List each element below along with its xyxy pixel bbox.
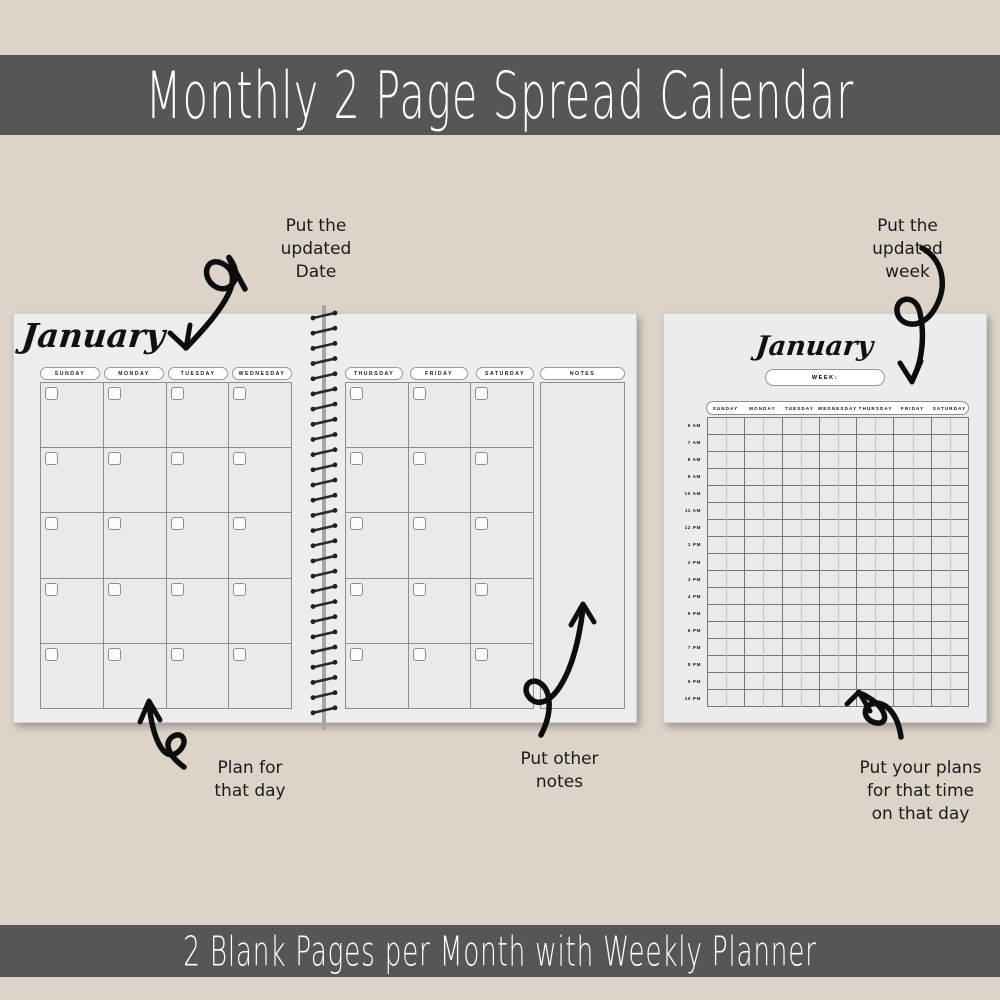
date-number-box[interactable] [45, 648, 58, 661]
month-day-cell[interactable] [167, 579, 230, 644]
weekly-time-column: 6 AM7 AM8 AM9 AM10 AM11 AM12 PM1 PM2 PM3… [676, 417, 704, 707]
weekly-day-header-thursday: THURSDAY [857, 406, 894, 411]
top-banner: Monthly 2 Page Spread Calendar [0, 55, 1000, 135]
date-number-box[interactable] [171, 452, 184, 465]
date-number-box[interactable] [108, 517, 121, 530]
page-title: Monthly 2 Page Spread Calendar [146, 57, 855, 134]
month-day-cell[interactable] [229, 513, 292, 578]
weekly-time-slot[interactable] [820, 503, 856, 520]
weekly-day-header-sunday: SUNDAY [707, 406, 744, 411]
weekly-column-saturday [932, 418, 969, 707]
weekly-time-slot[interactable] [894, 690, 930, 707]
month-day-cell[interactable] [409, 644, 472, 709]
month-day-cell[interactable] [167, 644, 230, 709]
weekly-time-slot[interactable] [745, 690, 781, 707]
weekly-time-slot[interactable] [708, 503, 744, 520]
time-label: 10 AM [676, 485, 704, 502]
weekly-time-slot[interactable] [857, 656, 893, 673]
time-label: 8 AM [676, 451, 704, 468]
weekly-column-friday [894, 418, 931, 707]
date-number-box[interactable] [45, 452, 58, 465]
weekly-time-slot[interactable] [894, 486, 930, 503]
month-day-cell[interactable] [104, 644, 167, 709]
weekly-time-slot[interactable] [745, 639, 781, 656]
month-day-cell[interactable] [346, 448, 409, 513]
weekly-time-slot[interactable] [857, 469, 893, 486]
month-day-cell[interactable] [167, 513, 230, 578]
bottom-banner: 2 Blank Pages per Month with Weekly Plan… [0, 925, 1000, 977]
weekly-time-slot[interactable] [745, 520, 781, 537]
weekly-time-slot[interactable] [708, 622, 744, 639]
weekly-time-slot[interactable] [857, 435, 893, 452]
notes-header: NOTES [540, 367, 625, 380]
date-number-box[interactable] [475, 517, 488, 530]
month-day-cell[interactable] [409, 383, 472, 448]
weekly-month-title: January [754, 331, 874, 362]
weekly-time-slot[interactable] [820, 486, 856, 503]
weekly-time-slot[interactable] [932, 554, 968, 571]
weekly-time-slot[interactable] [857, 690, 893, 707]
weekly-time-slot[interactable] [708, 639, 744, 656]
month-day-cell[interactable] [346, 644, 409, 709]
annotation-time: Put your plans for that time on that day [843, 757, 998, 826]
day-header-thursday: THURSDAY [345, 367, 403, 380]
weekly-time-slot[interactable] [932, 452, 968, 469]
date-number-box[interactable] [413, 452, 426, 465]
weekly-day-header-friday: FRIDAY [894, 406, 931, 411]
weekly-time-slot[interactable] [708, 588, 744, 605]
weekly-time-slot[interactable] [745, 656, 781, 673]
month-day-cell[interactable] [41, 579, 104, 644]
month-day-cell[interactable] [41, 383, 104, 448]
weekly-column-monday [745, 418, 782, 707]
month-day-cell[interactable] [229, 644, 292, 709]
weekly-time-slot[interactable] [932, 469, 968, 486]
weekly-column-sunday [708, 418, 745, 707]
weekly-time-slot[interactable] [932, 486, 968, 503]
month-day-cell[interactable] [409, 513, 472, 578]
date-number-box[interactable] [233, 517, 246, 530]
time-label: 6 AM [676, 417, 704, 434]
weekly-time-slot[interactable] [894, 554, 930, 571]
date-number-box[interactable] [108, 648, 121, 661]
time-label: 2 PM [676, 554, 704, 571]
date-number-box[interactable] [413, 517, 426, 530]
month-day-cell[interactable] [471, 383, 534, 448]
weekly-time-slot[interactable] [932, 639, 968, 656]
date-number-box[interactable] [45, 517, 58, 530]
weekly-time-slot[interactable] [857, 537, 893, 554]
date-number-box[interactable] [233, 387, 246, 400]
weekly-time-slot[interactable] [894, 520, 930, 537]
weekly-time-slot[interactable] [894, 435, 930, 452]
weekly-time-slot[interactable] [708, 537, 744, 554]
weekly-time-slot[interactable] [783, 452, 819, 469]
weekly-time-slot[interactable] [708, 554, 744, 571]
weekly-time-slot[interactable] [783, 673, 819, 690]
weekly-time-slot[interactable] [783, 554, 819, 571]
weekly-time-slot[interactable] [783, 520, 819, 537]
date-number-box[interactable] [350, 452, 363, 465]
weekly-time-slot[interactable] [708, 469, 744, 486]
weekly-time-slot[interactable] [745, 537, 781, 554]
weekly-time-slot[interactable] [745, 469, 781, 486]
day-header-tuesday: TUESDAY [168, 367, 228, 380]
monthly-left-grid [40, 382, 292, 709]
weekly-time-slot[interactable] [708, 520, 744, 537]
weekly-time-slot[interactable] [820, 571, 856, 588]
weekly-day-header-wednesday: WEDNESDAY [818, 406, 857, 411]
date-number-box[interactable] [171, 648, 184, 661]
time-label: 7 PM [676, 639, 704, 656]
weekly-time-slot[interactable] [783, 418, 819, 435]
weekly-time-slot[interactable] [857, 418, 893, 435]
month-day-cell[interactable] [346, 579, 409, 644]
monthly-month-title: January [20, 316, 167, 355]
month-day-cell[interactable] [104, 579, 167, 644]
month-day-cell[interactable] [471, 513, 534, 578]
weekly-time-slot[interactable] [820, 452, 856, 469]
weekly-time-slot[interactable] [894, 418, 930, 435]
weekly-time-slot[interactable] [783, 503, 819, 520]
weekly-time-slot[interactable] [894, 656, 930, 673]
weekly-time-slot[interactable] [820, 469, 856, 486]
weekly-time-slot[interactable] [932, 503, 968, 520]
weekly-column-wednesday [820, 418, 857, 707]
date-number-box[interactable] [350, 583, 363, 596]
weekly-time-slot[interactable] [745, 452, 781, 469]
month-day-cell[interactable] [167, 448, 230, 513]
weekly-time-slot[interactable] [745, 486, 781, 503]
weekly-time-slot[interactable] [820, 435, 856, 452]
weekly-time-slot[interactable] [894, 639, 930, 656]
date-number-box[interactable] [413, 583, 426, 596]
week-field-label: WEEK: [812, 375, 838, 381]
time-label: 10 PM [676, 690, 704, 707]
weekly-day-header-tuesday: TUESDAY [781, 406, 818, 411]
weekly-time-slot[interactable] [745, 605, 781, 622]
weekly-time-slot[interactable] [857, 571, 893, 588]
weekly-time-slot[interactable] [820, 554, 856, 571]
weekly-time-slot[interactable] [820, 605, 856, 622]
time-label: 9 PM [676, 673, 704, 690]
weekly-time-slot[interactable] [857, 639, 893, 656]
weekly-time-slot[interactable] [932, 673, 968, 690]
day-header-monday: MONDAY [104, 367, 164, 380]
date-number-box[interactable] [475, 648, 488, 661]
notes-area[interactable] [540, 382, 625, 709]
weekly-time-slot[interactable] [783, 639, 819, 656]
weekly-time-slot[interactable] [708, 418, 744, 435]
weekly-time-slot[interactable] [820, 588, 856, 605]
weekly-time-slot[interactable] [932, 588, 968, 605]
weekly-column-tuesday [783, 418, 820, 707]
weekly-column-thursday [857, 418, 894, 707]
weekly-time-slot[interactable] [820, 690, 856, 707]
month-day-cell[interactable] [471, 579, 534, 644]
date-number-box[interactable] [171, 387, 184, 400]
weekly-time-slot[interactable] [894, 605, 930, 622]
day-header-wednesday: WEDNESDAY [232, 367, 292, 380]
weekly-time-slot[interactable] [745, 673, 781, 690]
weekly-time-slot[interactable] [820, 418, 856, 435]
date-number-box[interactable] [413, 387, 426, 400]
weekly-time-slot[interactable] [932, 520, 968, 537]
weekly-time-slot[interactable] [820, 622, 856, 639]
weekly-time-slot[interactable] [708, 673, 744, 690]
weekly-time-slot[interactable] [932, 537, 968, 554]
weekly-time-slot[interactable] [820, 639, 856, 656]
date-number-box[interactable] [475, 387, 488, 400]
weekly-time-slot[interactable] [932, 571, 968, 588]
month-day-cell[interactable] [104, 383, 167, 448]
day-header-saturday: SATURDAY [476, 367, 534, 380]
date-number-box[interactable] [45, 387, 58, 400]
date-number-box[interactable] [413, 648, 426, 661]
weekly-time-slot[interactable] [783, 537, 819, 554]
weekly-time-slot[interactable] [894, 469, 930, 486]
date-number-box[interactable] [475, 583, 488, 596]
month-day-cell[interactable] [409, 448, 472, 513]
weekly-time-slot[interactable] [857, 622, 893, 639]
weekly-time-slot[interactable] [708, 690, 744, 707]
annotation-plan: Plan for that day [190, 757, 310, 803]
annotation-notes: Put other notes [497, 748, 622, 794]
weekly-time-slot[interactable] [932, 690, 968, 707]
date-number-box[interactable] [350, 648, 363, 661]
weekly-time-slot[interactable] [894, 503, 930, 520]
time-label: 9 AM [676, 468, 704, 485]
weekly-time-slot[interactable] [783, 486, 819, 503]
weekly-time-slot[interactable] [894, 571, 930, 588]
month-day-cell[interactable] [346, 513, 409, 578]
weekly-time-slot[interactable] [783, 588, 819, 605]
weekly-time-slot[interactable] [708, 605, 744, 622]
month-day-cell[interactable] [41, 513, 104, 578]
time-label: 1 PM [676, 536, 704, 553]
weekly-time-slot[interactable] [745, 588, 781, 605]
weekly-time-slot[interactable] [745, 435, 781, 452]
monthly-right-grid [345, 382, 534, 709]
weekly-time-slot[interactable] [783, 690, 819, 707]
weekly-time-slot[interactable] [820, 520, 856, 537]
weekly-time-slot[interactable] [932, 622, 968, 639]
month-day-cell[interactable] [104, 513, 167, 578]
week-field[interactable]: WEEK: [765, 369, 885, 386]
weekly-time-slot[interactable] [894, 537, 930, 554]
weekly-day-headers: SUNDAYMONDAYTUESDAYWEDNESDAYTHURSDAYFRID… [706, 401, 969, 415]
time-label: 8 PM [676, 656, 704, 673]
annotation-date: Put the updated Date [256, 215, 376, 284]
weekly-day-header-monday: MONDAY [744, 406, 781, 411]
month-day-cell[interactable] [229, 383, 292, 448]
weekly-time-slot[interactable] [820, 673, 856, 690]
weekly-time-slot[interactable] [932, 435, 968, 452]
weekly-time-slot[interactable] [932, 656, 968, 673]
annotation-week: Put the updated week [855, 215, 960, 284]
date-number-box[interactable] [475, 452, 488, 465]
month-day-cell[interactable] [229, 579, 292, 644]
weekly-time-slot[interactable] [708, 571, 744, 588]
weekly-time-slot[interactable] [745, 554, 781, 571]
weekly-time-slot[interactable] [820, 656, 856, 673]
weekly-time-slot[interactable] [708, 656, 744, 673]
weekly-time-slot[interactable] [745, 503, 781, 520]
time-label: 6 PM [676, 622, 704, 639]
weekly-time-slot[interactable] [857, 452, 893, 469]
date-number-box[interactable] [171, 517, 184, 530]
month-day-cell[interactable] [104, 448, 167, 513]
time-label: 7 AM [676, 434, 704, 451]
date-number-box[interactable] [233, 583, 246, 596]
weekly-time-slot[interactable] [857, 588, 893, 605]
weekly-time-slot[interactable] [894, 588, 930, 605]
weekly-time-slot[interactable] [708, 435, 744, 452]
month-day-cell[interactable] [346, 383, 409, 448]
weekly-time-slot[interactable] [820, 537, 856, 554]
weekly-time-slot[interactable] [894, 622, 930, 639]
weekly-time-slot[interactable] [857, 673, 893, 690]
page-subtitle: 2 Blank Pages per Month with Weekly Plan… [183, 927, 817, 975]
weekly-time-slot[interactable] [783, 622, 819, 639]
weekly-time-slot[interactable] [932, 418, 968, 435]
day-header-friday: FRIDAY [410, 367, 468, 380]
time-label: 4 PM [676, 588, 704, 605]
date-number-box[interactable] [45, 583, 58, 596]
weekly-time-slot[interactable] [745, 622, 781, 639]
weekly-time-slot[interactable] [783, 605, 819, 622]
weekly-time-slot[interactable] [783, 571, 819, 588]
time-label: 3 PM [676, 571, 704, 588]
weekly-time-slot[interactable] [745, 571, 781, 588]
month-day-cell[interactable] [229, 448, 292, 513]
weekly-time-grid[interactable] [707, 417, 969, 707]
date-number-box[interactable] [233, 648, 246, 661]
date-number-box[interactable] [350, 517, 363, 530]
month-day-cell[interactable] [409, 579, 472, 644]
time-label: 12 PM [676, 519, 704, 536]
date-number-box[interactable] [171, 583, 184, 596]
weekly-time-slot[interactable] [783, 469, 819, 486]
weekly-time-slot[interactable] [857, 554, 893, 571]
month-day-cell[interactable] [471, 644, 534, 709]
day-header-sunday: SUNDAY [40, 367, 100, 380]
date-number-box[interactable] [233, 452, 246, 465]
weekly-time-slot[interactable] [857, 520, 893, 537]
date-number-box[interactable] [108, 387, 121, 400]
weekly-time-slot[interactable] [857, 605, 893, 622]
time-label: 5 PM [676, 605, 704, 622]
weekly-time-slot[interactable] [894, 673, 930, 690]
month-day-cell[interactable] [471, 448, 534, 513]
month-day-cell[interactable] [167, 383, 230, 448]
date-number-box[interactable] [350, 387, 363, 400]
weekly-time-slot[interactable] [894, 452, 930, 469]
time-label: 11 AM [676, 502, 704, 519]
weekly-time-slot[interactable] [745, 418, 781, 435]
month-day-cell[interactable] [41, 644, 104, 709]
weekly-time-slot[interactable] [708, 486, 744, 503]
weekly-time-slot[interactable] [783, 656, 819, 673]
weekly-time-slot[interactable] [857, 503, 893, 520]
weekly-time-slot[interactable] [783, 435, 819, 452]
date-number-box[interactable] [108, 452, 121, 465]
month-day-cell[interactable] [41, 448, 104, 513]
weekly-day-header-saturday: SATURDAY [931, 406, 968, 411]
date-number-box[interactable] [108, 583, 121, 596]
weekly-time-slot[interactable] [932, 605, 968, 622]
weekly-time-slot[interactable] [708, 452, 744, 469]
weekly-time-slot[interactable] [857, 486, 893, 503]
